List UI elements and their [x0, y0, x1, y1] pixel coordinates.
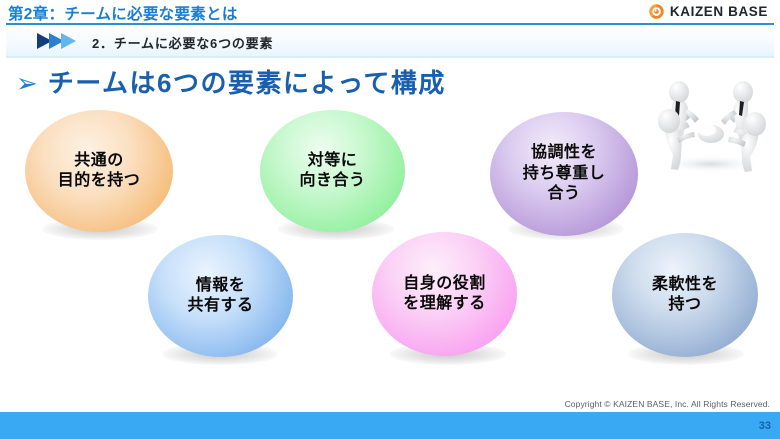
- sphere-equal-footing[interactable]: 対等に 向き合う: [260, 110, 405, 232]
- sphere-label: 協調性を 持ち尊重し 合う: [523, 143, 606, 204]
- section-subtitle: 2．チームに必要な6つの要素: [92, 33, 273, 52]
- page-title: ➢ チームは6つの要素によって構成: [16, 70, 446, 96]
- page-number: 33: [759, 420, 771, 432]
- sphere-label: 柔軟性を 持つ: [652, 275, 718, 316]
- teamwork-illustration: [645, 72, 777, 172]
- footer-bar: [0, 412, 780, 439]
- header-divider: [6, 23, 774, 25]
- sphere-flexibility[interactable]: 柔軟性を 持つ: [612, 233, 758, 357]
- chapter-title: 第2章：チームに必要な要素とは: [8, 2, 238, 24]
- sphere-cooperation-respect[interactable]: 協調性を 持ち尊重し 合う: [490, 112, 638, 236]
- sphere-share-information[interactable]: 情報を 共有する: [148, 235, 293, 357]
- kaizen-base-logo: KAIZEN BASE: [648, 3, 768, 20]
- slide-canvas: 第2章：チームに必要な要素とは KAIZEN BASE 2．チームに必要な6つの…: [0, 0, 780, 439]
- sphere-understand-own-role[interactable]: 自身の役割 を理解する: [372, 232, 517, 356]
- triple-chevron-right-icon: [36, 33, 82, 49]
- sphere-label: 自身の役割 を理解する: [403, 274, 486, 315]
- kaizen-gear-icon: [648, 3, 665, 20]
- copyright-notice: Copyright © KAIZEN BASE, Inc. All Rights…: [565, 399, 770, 409]
- sphere-label: 情報を 共有する: [187, 276, 253, 317]
- sphere-common-purpose[interactable]: 共通の 目的を持つ: [25, 110, 173, 232]
- arrow-bullet-icon: ➢: [16, 70, 38, 96]
- logo-text: KAIZEN BASE: [670, 4, 768, 19]
- sphere-label: 対等に 向き合う: [299, 151, 365, 192]
- page-title-text: チームは6つの要素によって構成: [48, 70, 446, 96]
- sphere-label: 共通の 目的を持つ: [58, 151, 141, 192]
